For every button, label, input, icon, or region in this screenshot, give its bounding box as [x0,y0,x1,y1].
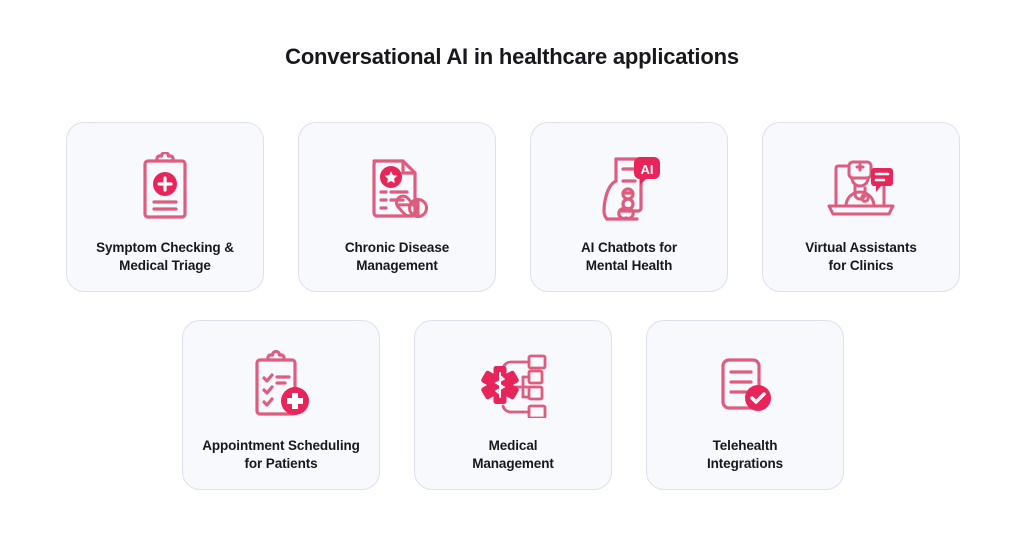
card-appointment-scheduling[interactable]: Appointment Scheduling for Patients [182,320,380,490]
card-label-line2: Medical Triage [119,258,211,273]
card-ai-chatbots[interactable]: AI AI Chatbots for Mental Health [530,122,728,292]
card-label-line2: for Patients [244,456,317,471]
card-label-line2: Management [472,456,554,471]
card-label-line2: Mental Health [586,258,672,273]
infographic-page: Conversational AI in healthcare applicat… [0,0,1024,534]
card-label-line1: Telehealth [713,438,778,453]
card-label: AI Chatbots for Mental Health [535,239,723,275]
card-row-1: Symptom Checking & Medical Triage [66,122,960,292]
card-label-line1: Symptom Checking & [96,240,234,255]
clipboard-checklist-plus-icon [243,347,319,423]
card-medical-management[interactable]: Medical Management [414,320,612,490]
card-label: Appointment Scheduling for Patients [187,437,375,473]
card-telehealth-integrations[interactable]: Telehealth Integrations [646,320,844,490]
card-label: Chronic Disease Management [303,239,491,275]
card-label: Telehealth Integrations [651,437,839,473]
card-label-line1: Medical [489,438,538,453]
card-label-line1: AI Chatbots for [581,240,677,255]
document-star-pills-icon [359,149,435,225]
card-chronic-disease[interactable]: Chronic Disease Management [298,122,496,292]
card-label: Medical Management [419,437,607,473]
card-label-line2: Management [356,258,438,273]
card-label-line2: for Clinics [829,258,894,273]
card-label-line1: Appointment Scheduling [202,438,360,453]
star-of-life-hierarchy-icon [475,347,551,423]
card-label: Symptom Checking & Medical Triage [71,239,259,275]
ai-badge-text: AI [641,162,654,177]
clipboard-plus-icon [127,149,203,225]
card-label: Virtual Assistants for Clinics [767,239,955,275]
page-title: Conversational AI in healthcare applicat… [0,44,1024,70]
card-label-line2: Integrations [707,456,783,471]
card-symptom-checking[interactable]: Symptom Checking & Medical Triage [66,122,264,292]
laptop-doctor-chat-icon [823,149,899,225]
document-check-icon [707,347,783,423]
card-virtual-assistants[interactable]: Virtual Assistants for Clinics [762,122,960,292]
card-label-line1: Chronic Disease [345,240,449,255]
card-label-line1: Virtual Assistants [805,240,917,255]
card-row-2: Appointment Scheduling for Patients [182,320,844,490]
hand-phone-ai-chat-icon: AI [591,149,667,225]
